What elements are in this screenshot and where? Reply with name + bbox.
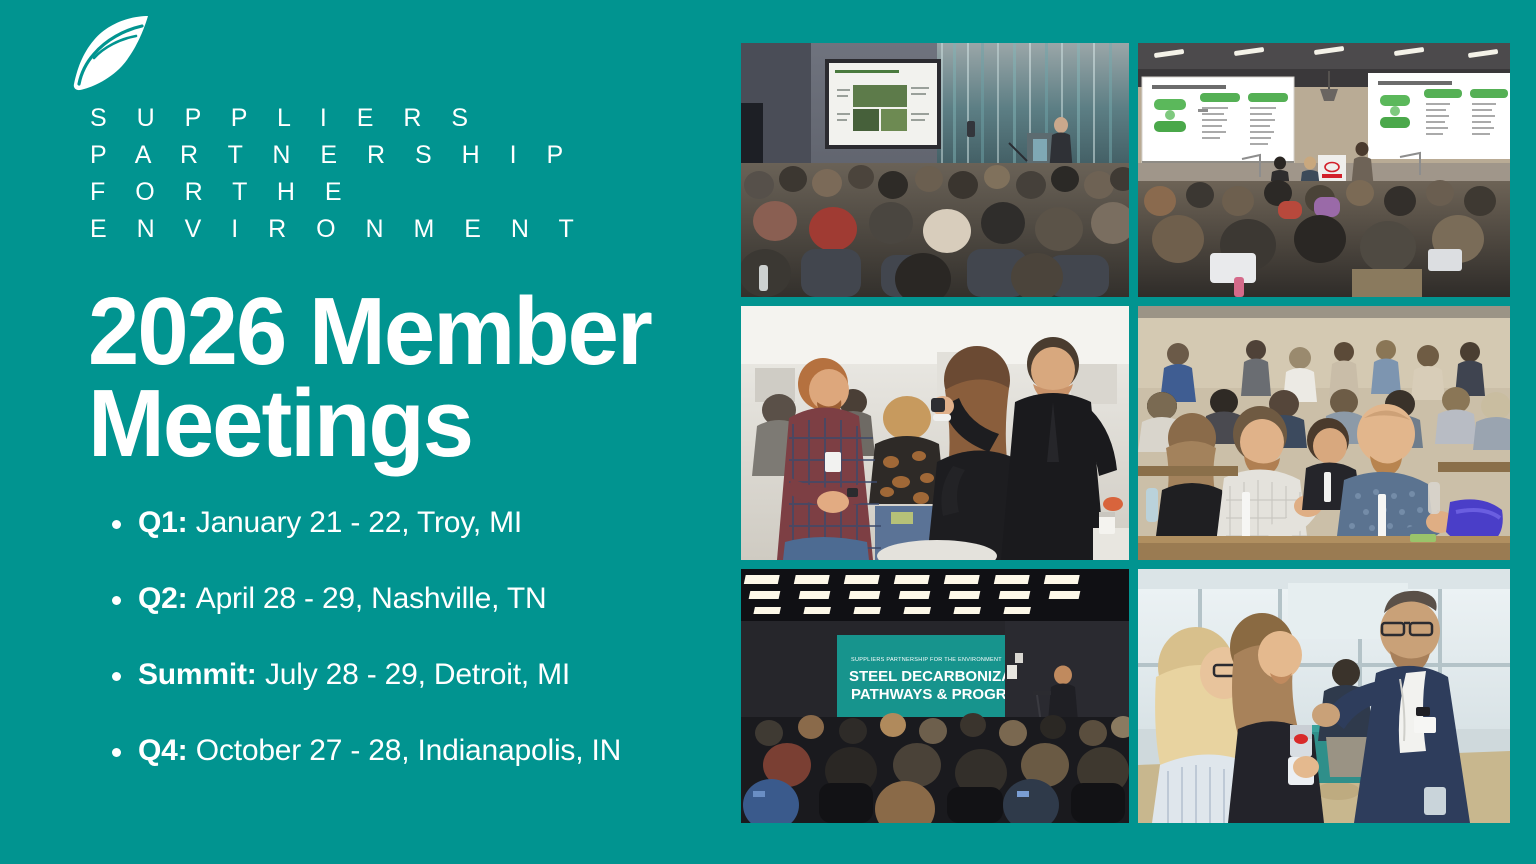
photo-middle-left xyxy=(741,306,1129,560)
meeting-detail: April 28 - 29, Nashville, TN xyxy=(196,582,547,615)
list-item: Q2: April 28 - 29, Nashville, TN xyxy=(104,582,744,616)
meeting-detail: October 27 - 28, Indianapolis, IN xyxy=(196,734,621,767)
meeting-label: Q2: xyxy=(138,582,187,615)
photo-bottom-left: SUPPLIERS PARTNERSHIP FOR THE ENVIRONMEN… xyxy=(741,569,1129,823)
page-title-line-1: 2026 Member xyxy=(88,286,702,378)
photo-middle-right xyxy=(1138,306,1510,560)
bullet-icon xyxy=(112,748,121,757)
list-item: Q1: January 21 - 22, Troy, MI xyxy=(104,506,744,540)
bullet-icon xyxy=(112,672,121,681)
brand-name: S U P P L I E R S P A R T N E R S H I P … xyxy=(90,100,484,248)
meeting-label: Q4: xyxy=(138,734,187,767)
meeting-detail: January 21 - 22, Troy, MI xyxy=(196,506,522,539)
meetings-list: Q1: January 21 - 22, Troy, MI Q2: April … xyxy=(104,506,744,768)
svg-text:SUPPLIERS PARTNERSHIP FOR THE: SUPPLIERS PARTNERSHIP FOR THE ENVIRONMEN… xyxy=(851,657,1002,663)
brand-line-1: S U P P L I E R S xyxy=(90,100,484,137)
list-item: Q4: October 27 - 28, Indianapolis, IN xyxy=(104,734,744,768)
page-title-line-2: Meetings xyxy=(88,378,702,470)
left-content-panel: S U P P L I E R S P A R T N E R S H I P … xyxy=(0,0,740,864)
brand-lockup: S U P P L I E R S P A R T N E R S H I P … xyxy=(64,14,484,248)
brand-line-3: F O R T H E xyxy=(90,174,484,211)
bullet-icon xyxy=(112,520,121,529)
meeting-detail: July 28 - 29, Detroit, MI xyxy=(265,658,570,691)
bullet-icon xyxy=(112,596,121,605)
page-title: 2026 Member Meetings xyxy=(88,286,702,470)
photo-top-right xyxy=(1138,43,1510,297)
brand-line-2: P A R T N E R S H I P xyxy=(90,137,484,174)
meeting-label: Summit: xyxy=(138,658,257,691)
list-item: Summit: July 28 - 29, Detroit, MI xyxy=(104,658,744,692)
photo-grid: SUPPLIERS PARTNERSHIP FOR THE ENVIRONMEN… xyxy=(741,43,1501,823)
photo-top-left xyxy=(741,43,1129,297)
leaf-icon xyxy=(70,14,154,94)
slide-canvas: S U P P L I E R S P A R T N E R S H I P … xyxy=(0,0,1536,864)
brand-line-4: E N V I R O N M E N T xyxy=(90,211,484,248)
photo-bottom-right xyxy=(1138,569,1510,823)
meeting-label: Q1: xyxy=(138,506,187,539)
